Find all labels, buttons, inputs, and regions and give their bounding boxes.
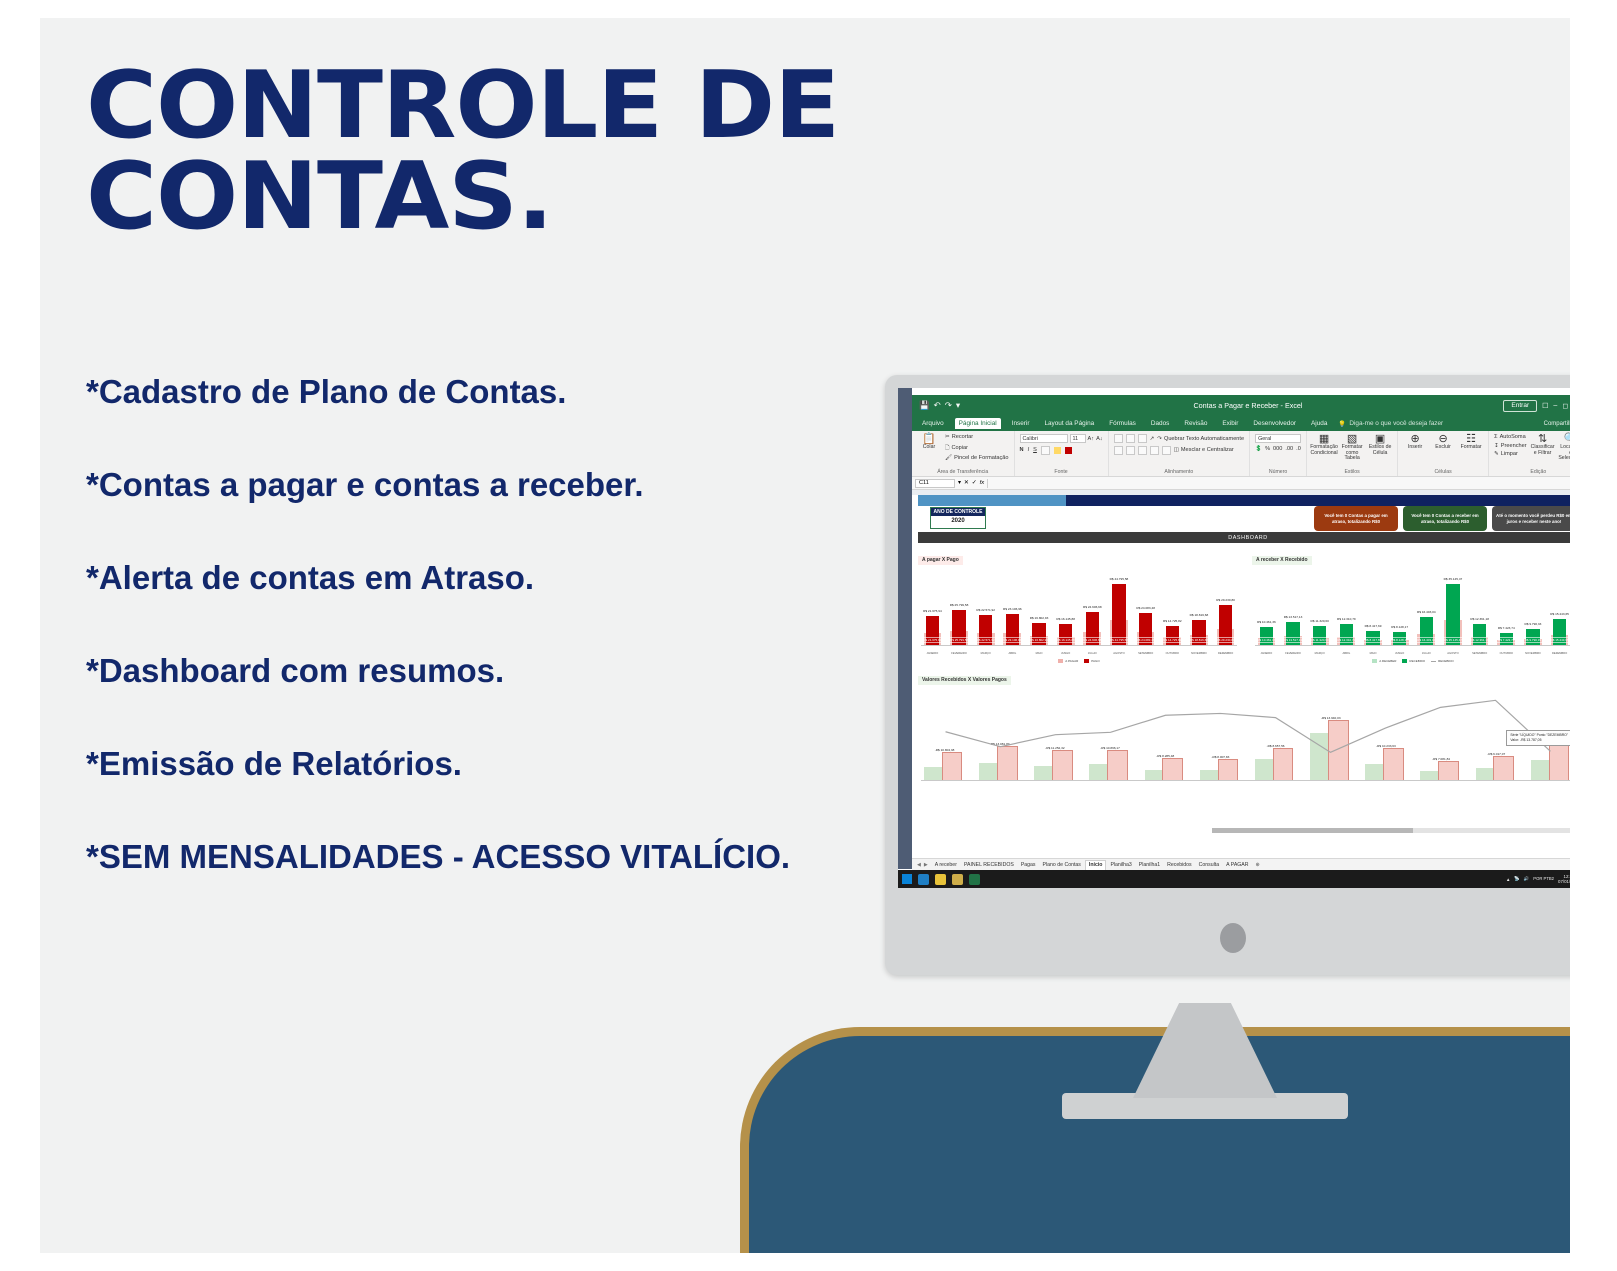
ribbon-group-cells: ⊕ Inserir ⊖ Excluir ☷ Formatar Células — [1398, 431, 1489, 476]
ribbon-group-font: Calibri 11 A↑ A↓ N I S Fonte — [1015, 431, 1109, 476]
system-tray[interactable]: ▲ 📡 🔊 POR PTB2 12:42 07/01/2021 — [1506, 874, 1570, 885]
year-control-label: ANO DE CONTROLE — [931, 508, 985, 516]
tell-me-box[interactable]: 💡 Diga-me o que você deseja fazer — [1338, 420, 1443, 428]
sheet-tab-recebidos[interactable]: Recebidos — [1164, 860, 1195, 869]
explorer-icon[interactable] — [952, 874, 963, 885]
x-axis-label: ABRIL — [1001, 652, 1024, 655]
formula-bar[interactable]: C11 ▾ ✕ ✓ fx — [912, 477, 1570, 490]
bar-inner-label: R$ 16.802,93 — [1028, 637, 1050, 643]
bar-value-label: R$ 25.799,58 — [950, 603, 969, 607]
x-axis-label: NOVEMBRO — [1522, 652, 1545, 655]
currency-icon[interactable]: 💲 — [1255, 446, 1262, 452]
bar-group: R$ 35.145,47R$ 35.145,47 — [1442, 570, 1465, 646]
alert-cards: Você tem 0 Contas a pagar em atraso, tot… — [1314, 506, 1570, 531]
year-control-box[interactable]: ANO DE CONTROLE 2020 — [930, 507, 986, 529]
bar-group: R$ 16.403,04R$ 16.403,04 — [1415, 570, 1438, 646]
tab-arquivo[interactable]: Arquivo — [918, 418, 948, 429]
sheet-tab-planilha3[interactable]: Planilha3 — [1107, 860, 1134, 869]
bar-inner-label: R$ 24.606,68 — [1081, 637, 1103, 643]
next-sheet-icon[interactable]: ▶ — [924, 862, 928, 868]
clear-label: Limpar — [1501, 451, 1518, 457]
ribbon-group-clipboard: 📋 Colar ✂Recortar 🗋Copiar 🖌Pincel de For… — [912, 431, 1015, 476]
sheet-tab-a-receber[interactable]: A receber — [932, 860, 960, 869]
bar-inner-label: R$ 25.799,58 — [948, 637, 970, 643]
copy-button[interactable]: 🗋Copiar — [945, 443, 1009, 453]
font-size-input[interactable]: 11 — [1070, 434, 1086, 443]
bar-group: R$ 29.230,80R$ 29.230,80 — [1214, 570, 1237, 646]
tab-revisao[interactable]: Revisão — [1180, 418, 1211, 429]
bar-group: R$ 16.145,88R$ 16.145,88 — [1054, 570, 1077, 646]
x-axis-label: JUNHO — [1054, 652, 1077, 655]
find-select-label: Localizar e Selecionar — [1558, 445, 1570, 462]
bar-value-label: R$ 16.145,88 — [1056, 617, 1075, 621]
bar-group: R$ 15.443,65R$ 15.443,65 — [1548, 570, 1570, 646]
bar-value-label: R$ 22.571,92 — [976, 608, 995, 612]
autosum-button[interactable]: ΣAutoSoma — [1494, 434, 1527, 440]
x-axis-label: AGOSTO — [1108, 652, 1131, 655]
name-box[interactable]: C11 — [915, 479, 955, 488]
x-axis-label: MAIO — [1362, 652, 1385, 655]
insert-function-icon[interactable]: fx — [980, 480, 985, 486]
x-axis-label: AGOSTO — [1442, 652, 1465, 655]
bar: R$ 22.571,92R$ 22.571,92 — [979, 615, 992, 646]
bar-value-label: R$ 16.403,04 — [1417, 610, 1436, 614]
bar-group: R$ 14.725,82R$ 14.725,82 — [1161, 570, 1184, 646]
bar-value-label: R$ 18.816,68 — [1190, 613, 1209, 617]
borders-icon[interactable] — [1041, 446, 1050, 455]
bar-group: R$ 24.083,48R$ 24.083,48 — [1134, 570, 1157, 646]
bar: R$ 14.725,82R$ 14.725,82 — [1166, 626, 1179, 646]
fill-label: Preencher — [1501, 443, 1527, 449]
paste-label: Colar — [923, 445, 935, 451]
bar-value-label: R$ 29.230,80 — [1216, 598, 1235, 602]
chart-legend-a-receber: A RECEBER RECEBIDO RECEBIDO — [1252, 659, 1570, 663]
windows-taskbar[interactable]: ▲ 📡 🔊 POR PTB2 12:42 07/01/2021 — [898, 870, 1570, 888]
bar-group: R$ 7.423,74R$ 7.423,74 — [1495, 570, 1518, 646]
language-indicator[interactable]: POR PTB2 — [1533, 876, 1554, 881]
decrease-indent-icon[interactable] — [1150, 446, 1159, 455]
wrap-text-button[interactable]: ↷Quebrar Texto Automaticamente — [1157, 436, 1244, 442]
bar-value-label: R$ 24.606,68 — [1083, 605, 1102, 609]
align-center-icon[interactable] — [1126, 446, 1135, 455]
bar: R$ 12.361,18R$ 12.361,18 — [1473, 624, 1486, 646]
alert-contas-a-pagar-atraso: Você tem 0 Contas a pagar em atraso, tot… — [1314, 506, 1398, 531]
wrap-text-icon: ↷ — [1157, 436, 1162, 442]
monitor-logo — [1220, 923, 1246, 953]
alert-contas-a-receber-atraso: Você tem 0 Contas a receber em atraso, t… — [1403, 506, 1487, 531]
ribbon-group-alignment: ↗ ↷Quebrar Texto Automaticamente ◫Mescla… — [1109, 431, 1251, 476]
list-item: *SEM MENSALIDADES - ACESSO VITALÍCIO. — [86, 838, 846, 877]
bar-value-label: R$ 7.423,74 — [1498, 626, 1515, 630]
find-select-button[interactable]: 🔍 Localizar e Selecionar — [1559, 434, 1570, 468]
eraser-icon: ✎ — [1494, 451, 1499, 457]
bar-value-label: R$ 44.795,58 — [1110, 577, 1129, 581]
group-label-number: Número — [1250, 469, 1306, 475]
tab-layout-da-pagina[interactable]: Layout da Página — [1040, 418, 1098, 429]
list-item: *Dashboard com resumos. — [86, 652, 846, 691]
bar-group: R$ 8.417,69R$ 8.417,69 — [1362, 570, 1385, 646]
sheet-tab-consulta[interactable]: Consulta — [1196, 860, 1222, 869]
excel-title-bar: 💾 ↶ ↷ ▾ Contas a Pagar e Receber - Excel… — [912, 395, 1570, 416]
brush-icon: 🖌 — [945, 455, 952, 461]
share-button[interactable]: Compartilhar — [1544, 421, 1570, 427]
list-item: *Alerta de contas em Atraso. — [86, 559, 846, 598]
group-label-styles: Estilos — [1307, 469, 1397, 475]
chart-axis-a-receber — [1255, 645, 1570, 646]
ribbon-tab-strip[interactable]: Arquivo Página Inicial Inserir Layout da… — [912, 416, 1570, 431]
bar-inner-label: R$ 7.423,74 — [1496, 637, 1516, 643]
bar: R$ 10.461,36R$ 10.461,36 — [1260, 627, 1273, 646]
legend-pago: PAGO — [1091, 659, 1099, 663]
year-control-value[interactable]: 2020 — [931, 516, 985, 526]
clock-date: 07/01/2021 — [1558, 879, 1570, 884]
bar: R$ 29.230,80R$ 29.230,80 — [1219, 605, 1232, 646]
lightbulb-icon: 💡 — [1338, 420, 1346, 428]
bar-value-label: R$ 9.790,33 — [1525, 622, 1542, 626]
italic-button[interactable]: I — [1028, 447, 1030, 453]
bar: R$ 16.403,04R$ 16.403,04 — [1420, 617, 1433, 646]
bar: R$ 18.816,68R$ 18.816,68 — [1192, 620, 1205, 646]
chart-axis-valores — [921, 780, 1570, 781]
x-axis-label: DEZEMBRO — [1214, 652, 1237, 655]
page-title: CONTROLE DE CONTAS. — [86, 60, 960, 242]
bar-group: R$ 22.571,92R$ 22.571,92 — [974, 570, 997, 646]
first-sheet-icon[interactable]: ◀ — [917, 862, 921, 868]
chart-legend-a-pagar: A PAGAR PAGO — [918, 659, 1240, 663]
fill-button[interactable]: ↧Preencher — [1494, 443, 1527, 449]
bar-inner-label: R$ 18.816,68 — [1188, 637, 1210, 643]
align-top-icon[interactable] — [1114, 434, 1123, 443]
font-name-input[interactable]: Calibri — [1020, 434, 1068, 443]
clock[interactable]: 12:42 07/01/2021 — [1558, 874, 1570, 885]
bar-value-label: R$ 23.106,96 — [1003, 607, 1022, 611]
clock-time: 12:42 — [1564, 874, 1571, 879]
orientation-icon[interactable]: ↗ — [1150, 436, 1155, 442]
bar-inner-label: R$ 24.083,48 — [1135, 637, 1157, 643]
bar-inner-label: R$ 15.443,65 — [1549, 637, 1570, 643]
bar: R$ 23.106,96R$ 23.106,96 — [1006, 614, 1019, 646]
bar-value-label: R$ 12.310,79 — [1337, 617, 1356, 621]
sort-filter-button[interactable]: ⇅ Classificar e Filtrar — [1531, 434, 1555, 468]
bar-inner-label: R$ 9.790,33 — [1523, 637, 1543, 643]
grow-font-icon[interactable]: A↑ — [1088, 436, 1095, 442]
chart-bars-a-receber: R$ 10.461,36R$ 10.461,36R$ 13.517,13R$ 1… — [1252, 570, 1570, 646]
list-item: *Emissão de Relatórios. — [86, 745, 846, 784]
header-band-dark — [1066, 495, 1570, 506]
excel-icon[interactable] — [969, 874, 980, 885]
format-label: Formatar — [1461, 445, 1482, 451]
chart-axis-a-pagar — [921, 645, 1237, 646]
ribbon-group-editing: ΣAutoSoma ↧Preencher ✎Limpar ⇅ Classific… — [1489, 431, 1570, 476]
bar-value-label: R$ 8.128,17 — [1391, 625, 1408, 629]
x-axis-label: MARÇO — [974, 652, 997, 655]
bar-group: R$ 44.795,58R$ 44.795,58 — [1108, 570, 1131, 646]
dashboard-banner: DASHBOARD — [918, 532, 1570, 543]
sheet-tab-a-pagar[interactable]: A PAGAR — [1223, 860, 1251, 869]
bar: R$ 15.443,65R$ 15.443,65 — [1553, 619, 1566, 646]
bar-group: R$ 9.790,33R$ 9.790,33 — [1522, 570, 1545, 646]
bar-inner-label: R$ 21.675,94 — [921, 637, 943, 643]
x-axis-label: JULHO — [1415, 652, 1438, 655]
sort-filter-label: Classificar e Filtrar — [1531, 445, 1555, 456]
bar-value-label: R$ 21.675,94 — [923, 609, 942, 613]
group-label-editing: Edição — [1489, 469, 1570, 475]
list-item: *Cadastro de Plano de Contas. — [86, 373, 846, 412]
format-painter-button[interactable]: 🖌Pincel de Formatação — [945, 455, 1009, 461]
header-band-light — [918, 495, 1066, 506]
bar-group: R$ 13.517,13R$ 13.517,13 — [1282, 570, 1305, 646]
decrease-decimal-icon[interactable]: .0 — [1296, 446, 1301, 452]
bar-value-label: R$ 12.361,18 — [1470, 617, 1489, 621]
bar-inner-label: R$ 11.320,60 — [1309, 637, 1331, 643]
bar: R$ 24.606,68R$ 24.606,68 — [1086, 612, 1099, 646]
horizontal-scrollbar[interactable] — [1212, 828, 1570, 833]
fill-icon: ↧ — [1494, 443, 1499, 449]
list-item: *Contas a pagar e contas a receber. — [86, 466, 846, 505]
chevron-down-icon[interactable]: ▾ — [958, 480, 961, 486]
format-as-table-button[interactable]: ▧ Formatar como Tabela — [1340, 434, 1364, 468]
x-axis-label: SETEMBRO — [1468, 652, 1491, 655]
cell-styles-label: Estilos de Célula — [1368, 445, 1392, 456]
x-axis-label: NOVEMBRO — [1188, 652, 1211, 655]
bar-inner-label: R$ 14.725,82 — [1161, 637, 1183, 643]
bar: R$ 11.320,60R$ 11.320,60 — [1313, 626, 1326, 646]
bar-inner-label: R$ 12.361,18 — [1469, 637, 1491, 643]
autosum-label: AutoSoma — [1500, 434, 1526, 440]
sheet-tab-pagas[interactable]: Pagas — [1018, 860, 1039, 869]
poster-canvas: CONTROLE DE CONTAS. *Cadastro de Plano d… — [40, 18, 1570, 1253]
bar-group: R$ 23.106,96R$ 23.106,96 — [1001, 570, 1024, 646]
chart-xlabels-a-pagar: JANEIROFEVEREIROMARÇOABRILMAIOJUNHOJULHO… — [918, 652, 1240, 655]
add-sheet-icon[interactable]: ⊕ — [1253, 862, 1263, 868]
tab-inserir[interactable]: Inserir — [1008, 418, 1034, 429]
feature-list: *Cadastro de Plano de Contas. *Contas a … — [86, 373, 846, 877]
bar-group: R$ 11.320,60R$ 11.320,60 — [1308, 570, 1331, 646]
window-title: Contas a Pagar e Receber - Excel — [912, 401, 1570, 410]
bar-group: R$ 8.128,17R$ 8.128,17 — [1388, 570, 1411, 646]
format-cells-button[interactable]: ☷ Formatar — [1459, 434, 1483, 468]
group-label-cells: Células — [1398, 469, 1488, 475]
confirm-formula-icon[interactable]: ✓ — [972, 480, 977, 486]
bar-value-label: R$ 15.443,65 — [1550, 612, 1569, 616]
sheet-nav-arrows[interactable]: ◀ ▶ — [914, 862, 931, 868]
tab-pagina-inicial[interactable]: Página Inicial — [955, 418, 1001, 429]
bar-value-label: R$ 14.725,82 — [1163, 619, 1182, 623]
format-as-table-label: Formatar como Tabela — [1340, 445, 1364, 462]
bar: R$ 24.083,48R$ 24.083,48 — [1139, 613, 1152, 646]
tooltip-value: Valor: -R$ 13.787,05 — [1510, 738, 1568, 743]
sigma-icon: Σ — [1494, 434, 1497, 440]
bar-value-label: R$ 24.083,48 — [1136, 606, 1155, 610]
bar: R$ 25.799,58R$ 25.799,58 — [952, 610, 965, 646]
bar: R$ 44.795,58R$ 44.795,58 — [1112, 584, 1125, 646]
x-axis-label: MARÇO — [1308, 652, 1331, 655]
x-axis-label: ABRIL — [1335, 652, 1358, 655]
bar-group: R$ 12.361,18R$ 12.361,18 — [1468, 570, 1491, 646]
bar-inner-label: R$ 16.403,04 — [1415, 637, 1437, 643]
x-axis-label: FEVEREIRO — [1282, 652, 1305, 655]
edge-icon[interactable] — [918, 874, 929, 885]
bar-group: R$ 25.799,58R$ 25.799,58 — [948, 570, 971, 646]
sheet-tab-plano-de-contas[interactable]: Plano de Contas — [1040, 860, 1084, 869]
bar: R$ 9.790,33R$ 9.790,33 — [1526, 629, 1539, 646]
x-axis-label: SETEMBRO — [1134, 652, 1157, 655]
bar-inner-label: R$ 44.795,58 — [1108, 637, 1130, 643]
bar-inner-label: R$ 12.310,79 — [1335, 637, 1357, 643]
ribbon[interactable]: 📋 Colar ✂Recortar 🗋Copiar 🖌Pincel de For… — [912, 431, 1570, 477]
x-axis-label: OUTUBRO — [1495, 652, 1518, 655]
chart-a-receber-x-recebido[interactable]: A receber X Recebido R$ 10.461,36R$ 10.4… — [1252, 548, 1570, 658]
percent-button[interactable]: % — [1265, 446, 1270, 452]
cell-styles-button[interactable]: ▣ Estilos de Célula — [1368, 434, 1392, 468]
bar-inner-label: R$ 22.571,92 — [975, 637, 997, 643]
align-bottom-icon[interactable] — [1138, 434, 1147, 443]
bar: R$ 8.128,17R$ 8.128,17 — [1393, 632, 1406, 646]
underline-button[interactable]: S — [1033, 447, 1037, 453]
copy-label: Copiar — [952, 445, 968, 451]
group-label-clipboard: Área de Transferência — [912, 469, 1014, 475]
align-middle-icon[interactable] — [1126, 434, 1135, 443]
x-axis-label: FEVEREIRO — [948, 652, 971, 655]
worksheet-area[interactable]: ANO DE CONTROLE 2020 Você tem 0 Contas a… — [912, 490, 1570, 853]
fill-color-icon[interactable] — [1054, 447, 1061, 454]
x-axis-label: JANEIRO — [921, 652, 944, 655]
x-axis-label: DEZEMBRO — [1548, 652, 1570, 655]
increase-decimal-icon[interactable]: .00 — [1285, 446, 1293, 452]
x-axis-label: JANEIRO — [1255, 652, 1278, 655]
bar-value-label: R$ 13.517,13 — [1284, 615, 1303, 619]
bold-button[interactable]: N — [1020, 447, 1024, 453]
bar-group: R$ 16.802,93R$ 16.802,93 — [1028, 570, 1051, 646]
bar-inner-label: R$ 8.128,17 — [1389, 637, 1409, 643]
sheet-tab-painel-recebidos[interactable]: PAINEL RECEBIDOS — [961, 860, 1017, 869]
alert-perdas: Até o momento você perdeu R$0 em juros e… — [1492, 506, 1570, 531]
bar: R$ 8.417,69R$ 8.417,69 — [1366, 631, 1379, 646]
scissors-icon: ✂ — [945, 434, 950, 440]
tell-me-label: Diga-me o que você deseja fazer — [1349, 420, 1443, 427]
bar: R$ 16.802,93R$ 16.802,93 — [1032, 623, 1045, 646]
increase-indent-icon[interactable] — [1162, 446, 1171, 455]
chart-line-liquido — [918, 680, 1570, 793]
bar-inner-label: R$ 13.517,13 — [1282, 637, 1304, 643]
bar-inner-label: R$ 23.106,96 — [1001, 637, 1023, 643]
delete-label: Excluir — [1435, 445, 1451, 451]
bar-value-label: R$ 8.417,69 — [1365, 624, 1382, 628]
x-axis-label: JULHO — [1081, 652, 1104, 655]
bar-group: R$ 10.461,36R$ 10.461,36 — [1255, 570, 1278, 646]
insert-label: Inserir — [1408, 445, 1422, 451]
bar: R$ 16.145,88R$ 16.145,88 — [1059, 624, 1072, 646]
merge-icon: ◫ — [1174, 447, 1179, 453]
comma-button[interactable]: 000 — [1273, 446, 1282, 452]
shrink-font-icon[interactable]: A↓ — [1096, 436, 1103, 442]
bar: R$ 12.310,79R$ 12.310,79 — [1340, 624, 1353, 646]
monitor-screen: 💾 ↶ ↷ ▾ Contas a Pagar e Receber - Excel… — [898, 388, 1570, 888]
format-painter-label: Pincel de Formatação — [954, 455, 1008, 461]
bar-inner-label: R$ 35.145,47 — [1442, 637, 1464, 643]
bar-group: R$ 21.675,94R$ 21.675,94 — [921, 570, 944, 646]
conditional-formatting-label: Formatação Condicional — [1310, 445, 1338, 456]
chrome-icon[interactable] — [935, 874, 946, 885]
bar-group: R$ 12.310,79R$ 12.310,79 — [1335, 570, 1358, 646]
align-left-icon[interactable] — [1114, 446, 1123, 455]
bar: R$ 35.145,47R$ 35.145,47 — [1446, 584, 1459, 646]
group-label-alignment: Alinhamento — [1109, 469, 1250, 475]
start-icon[interactable] — [902, 874, 912, 884]
sheet-tab-bar[interactable]: ◀ ▶ A receber PAINEL RECEBIDOS Pagas Pla… — [912, 858, 1570, 870]
delete-cells-button[interactable]: ⊖ Excluir — [1431, 434, 1455, 468]
clear-button[interactable]: ✎Limpar — [1494, 451, 1527, 457]
chevron-up-icon[interactable]: ▲ — [1506, 877, 1510, 882]
formula-input[interactable] — [987, 479, 1570, 488]
x-axis-label: OUTUBRO — [1161, 652, 1184, 655]
window-left-edge — [898, 388, 912, 869]
legend-a-pagar: A PAGAR — [1065, 659, 1078, 663]
merge-center-button[interactable]: ◫Mesclar e Centralizar — [1174, 447, 1234, 453]
tab-dados[interactable]: Dados — [1147, 418, 1173, 429]
copy-icon: 🗋 — [945, 443, 950, 453]
sheet-tab-planilha1[interactable]: Planilha1 — [1136, 860, 1163, 869]
tab-exibir[interactable]: Exibir — [1218, 418, 1242, 429]
ribbon-group-number: Geral 💲 % 000 .00 .0 Número — [1250, 431, 1307, 476]
bar-value-label: R$ 11.320,60 — [1311, 619, 1329, 623]
wrap-text-label: Quebrar Texto Automaticamente — [1164, 436, 1244, 442]
chart-xlabels-a-receber: JANEIROFEVEREIROMARÇOABRILMAIOJUNHOJULHO… — [1252, 652, 1570, 655]
x-axis-label: JUNHO — [1388, 652, 1411, 655]
tab-desenvolvedor[interactable]: Desenvolvedor — [1249, 418, 1300, 429]
bar-inner-label: R$ 10.461,36 — [1255, 637, 1277, 643]
cancel-formula-icon[interactable]: ✕ — [964, 480, 969, 486]
cut-button[interactable]: ✂Recortar — [945, 434, 1009, 440]
bar-inner-label: R$ 8.417,69 — [1363, 637, 1383, 643]
chart-bars-a-pagar: R$ 21.675,94R$ 21.675,94R$ 25.799,58R$ 2… — [918, 570, 1240, 646]
bar-value-label: R$ 16.802,93 — [1030, 616, 1049, 620]
merge-center-label: Mesclar e Centralizar — [1181, 447, 1234, 453]
ribbon-group-styles: ▦ Formatação Condicional ▧ Formatar como… — [1307, 431, 1398, 476]
volume-icon[interactable]: 🔊 — [1524, 876, 1529, 882]
number-format-select[interactable]: Geral — [1255, 434, 1301, 443]
bar: R$ 21.675,94R$ 21.675,94 — [926, 616, 939, 646]
bar-value-label: R$ 35.145,47 — [1444, 577, 1463, 581]
bar-group: R$ 24.606,68R$ 24.606,68 — [1081, 570, 1104, 646]
network-icon[interactable]: 📡 — [1514, 876, 1519, 882]
chart-a-pagar-x-pago[interactable]: A pagar X Pago R$ 21.675,94R$ 21.675,94R… — [918, 548, 1240, 658]
legend-recebido-line: RECEBIDO — [1438, 659, 1454, 663]
bar: R$ 13.517,13R$ 13.517,13 — [1286, 622, 1299, 646]
group-label-font: Fonte — [1015, 469, 1108, 475]
chart-valores-recebidos-x-pagos[interactable]: Valores Recebidos X Valores Pagos -R$ 10… — [918, 668, 1570, 793]
bar-inner-label: R$ 29.230,80 — [1215, 637, 1237, 643]
bar-value-label: R$ 10.461,36 — [1257, 620, 1276, 624]
tab-ajuda[interactable]: Ajuda — [1307, 418, 1331, 429]
paste-button[interactable]: 📋 Colar — [917, 434, 941, 468]
font-color-icon[interactable] — [1065, 447, 1072, 454]
legend-recebido: RECEBIDO — [1409, 659, 1425, 663]
bar-inner-label: R$ 16.145,88 — [1055, 637, 1077, 643]
insert-cells-button[interactable]: ⊕ Inserir — [1403, 434, 1427, 468]
x-axis-label: MAIO — [1028, 652, 1051, 655]
tab-formulas[interactable]: Fórmulas — [1105, 418, 1140, 429]
align-right-icon[interactable] — [1138, 446, 1147, 455]
legend-a-receber: A RECEBER — [1379, 659, 1396, 663]
chart-tooltip: Série "LÍQUIDO" Ponto "DEZEMBRO" Valor: … — [1506, 730, 1570, 746]
bar-group: R$ 18.816,68R$ 18.816,68 — [1188, 570, 1211, 646]
cut-label: Recortar — [952, 434, 973, 440]
conditional-formatting-button[interactable]: ▦ Formatação Condicional — [1312, 434, 1336, 468]
sheet-tab-inicio[interactable]: Início — [1085, 860, 1107, 870]
